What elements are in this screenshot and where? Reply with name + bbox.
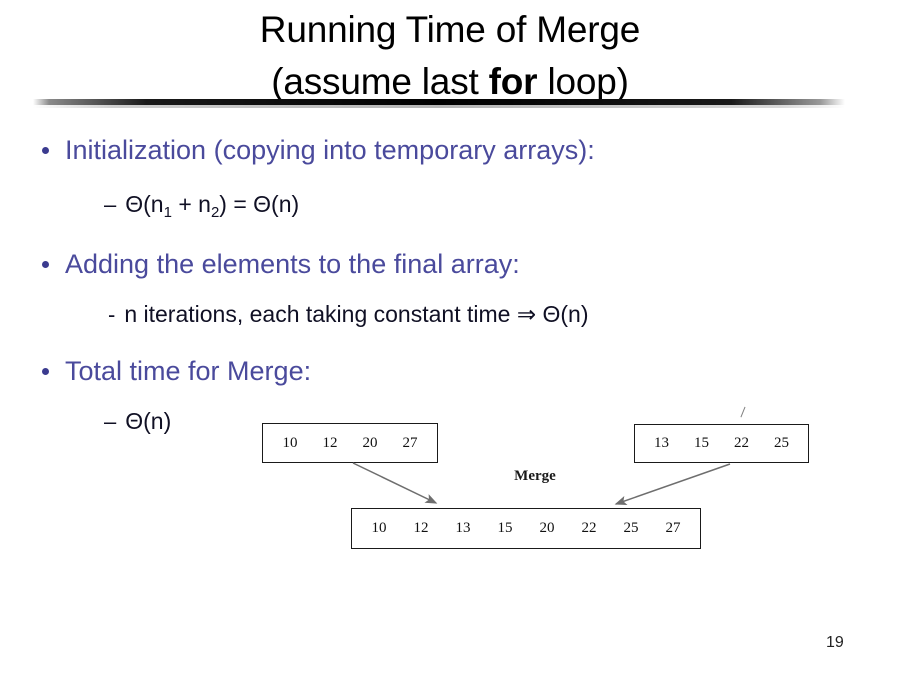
sub-bullet-total-time-complexity: – Θ(n) xyxy=(104,407,171,435)
bullet-item-adding-elements: Adding the elements to the final array: xyxy=(42,248,520,281)
result-array-cells: 10 12 13 15 20 22 25 27 xyxy=(358,520,694,537)
slide-canvas: Running Time of Merge (assume last for l… xyxy=(0,0,900,675)
sub-bullet-adding-elements-complexity: - n iterations, each taking constant tim… xyxy=(108,300,588,328)
title-line-1: Running Time of Merge xyxy=(0,4,900,56)
array-cell: 25 xyxy=(610,520,652,537)
subscript-2: 2 xyxy=(211,204,219,221)
array-cell: 10 xyxy=(358,520,400,537)
array-cell: 20 xyxy=(526,520,568,537)
sub-bullet-initialization-complexity: – Θ(n1 + n2) = Θ(n) xyxy=(104,190,299,222)
bullet-item-initialization: Initialization (copying into temporary a… xyxy=(42,134,595,167)
bullet-label-total-time: Total time for Merge: xyxy=(65,355,311,388)
title-divider-shadow xyxy=(33,105,845,108)
slide-title: Running Time of Merge (assume last for l… xyxy=(0,4,900,108)
result-array-box: 10 12 13 15 20 22 25 27 xyxy=(351,508,701,549)
bullet-item-total-time: Total time for Merge: xyxy=(42,355,311,388)
array-cell: 13 xyxy=(442,520,484,537)
theta-equals-theta-n: ) = Θ(n) xyxy=(219,191,299,217)
sub-bullet-dash-icon: - xyxy=(108,302,115,328)
bullet-label-initialization: Initialization (copying into temporary a… xyxy=(65,134,595,167)
title-line-2-before: (assume last xyxy=(271,61,488,102)
bullet-dot-icon xyxy=(42,368,49,375)
sub-bullet-dash-icon: – xyxy=(104,409,116,435)
theta-n1-prefix: Θ(n xyxy=(125,191,163,217)
page-number: 19 xyxy=(826,634,844,652)
sub-bullet-text-initialization: Θ(n1 + n2) = Θ(n) xyxy=(125,190,299,222)
sub-bullet-text-adding-elements: n iterations, each taking constant time … xyxy=(124,300,588,328)
arrow-left-to-result xyxy=(353,463,436,503)
title-keyword-for: for xyxy=(489,61,538,102)
sub-bullet-text-total-time: Θ(n) xyxy=(125,407,171,435)
array-cell: 12 xyxy=(400,520,442,537)
arrow-right-to-result xyxy=(616,464,730,504)
theta-plus-n2: + n xyxy=(172,191,211,217)
array-cell: 15 xyxy=(484,520,526,537)
array-cell: 22 xyxy=(568,520,610,537)
bullet-label-adding-elements: Adding the elements to the final array: xyxy=(65,248,520,281)
array-cell: 27 xyxy=(652,520,694,537)
bullet-dot-icon xyxy=(42,261,49,268)
bullet-dot-icon xyxy=(42,147,49,154)
sub-bullet-dash-icon: – xyxy=(104,192,116,218)
subscript-1: 1 xyxy=(164,204,172,221)
merge-diagram: 10 12 20 27 13 15 22 25 Merge xyxy=(250,405,830,565)
title-line-2-after: loop) xyxy=(537,61,628,102)
